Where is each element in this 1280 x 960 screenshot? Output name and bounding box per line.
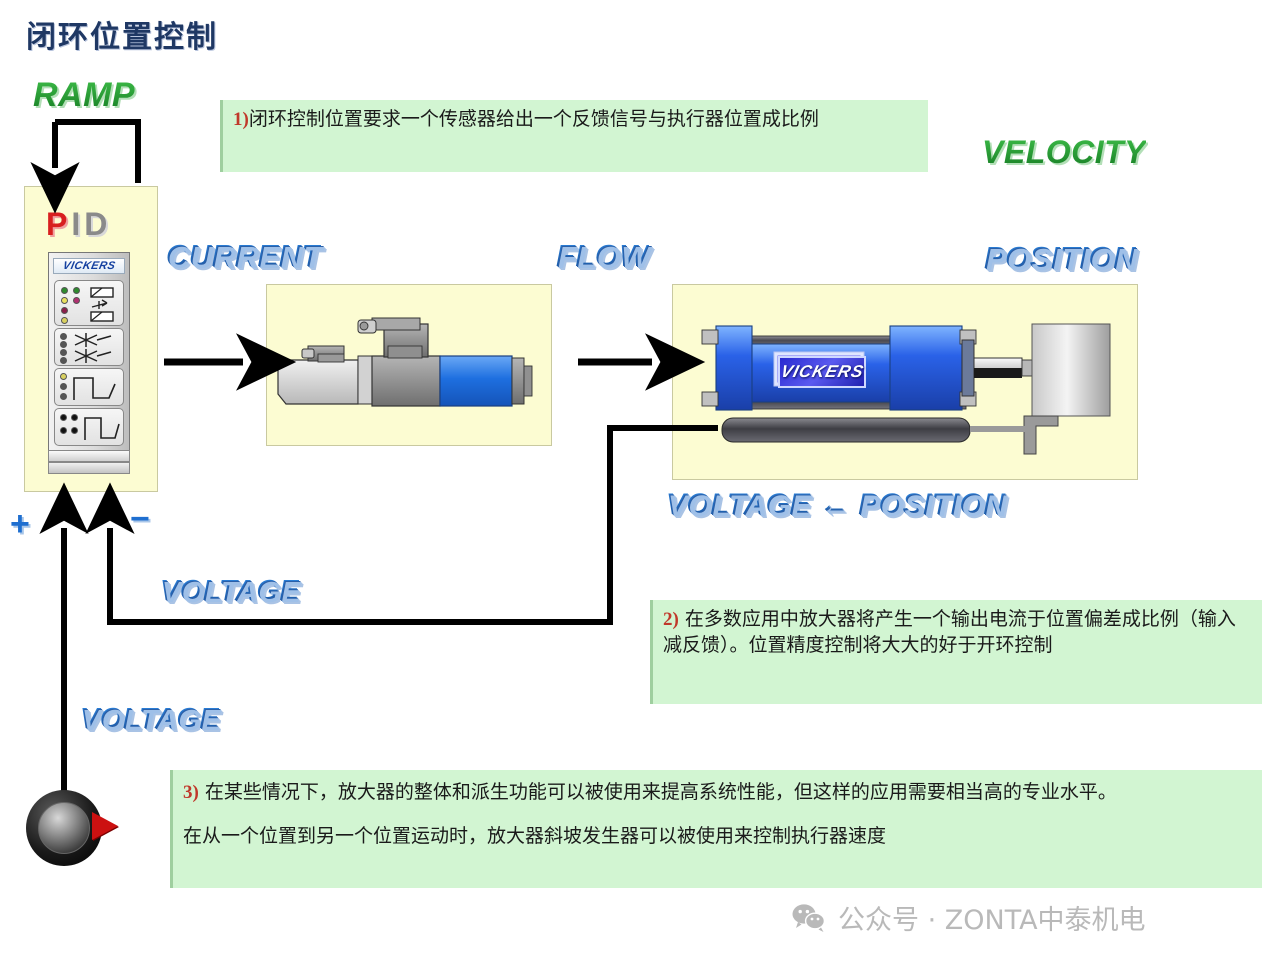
- vickers-logo-amplifier: VICKERS: [53, 258, 125, 274]
- command-knob-pointer-icon: [92, 812, 118, 840]
- note-3-text-2: 在从一个位置到另一个位置运动时，放大器斜坡发生器可以被使用来控制执行器速度: [183, 824, 1252, 850]
- note-2-number: 2): [663, 609, 679, 630]
- led-black-4: [71, 427, 78, 434]
- led-yellow-3: [60, 373, 67, 380]
- pid-letter-i: I: [71, 206, 84, 242]
- led-yellow-2: [61, 317, 68, 324]
- note-1-number: 1): [233, 109, 249, 130]
- amplifier-footer-strip-1: [48, 450, 130, 462]
- label-flow: FLOW: [556, 238, 649, 274]
- amplifier-section-4: [54, 408, 124, 446]
- led-red-1: [61, 307, 68, 314]
- amplifier-section-3: [54, 368, 124, 406]
- ramp-waveform-icon-1: [71, 372, 121, 404]
- led-dark-3: [60, 349, 67, 356]
- vickers-logo-cylinder: VICKERS: [778, 356, 866, 388]
- summing-junction-plus: +: [10, 505, 30, 544]
- command-knob-inner[interactable]: [38, 802, 90, 854]
- valve-symbol-icon-1: [87, 285, 121, 325]
- led-dark-5: [60, 383, 67, 390]
- vickers-wordmark: VICKERS: [62, 260, 117, 272]
- label-voltage-from-position: VOLTAGE ← POSITION: [666, 488, 1006, 522]
- note-2-text: 在多数应用中放大器将产生一个输出电流于位置偏差成比例（输入减反馈）。位置精度控制…: [663, 608, 1236, 656]
- led-dark-2: [60, 341, 67, 348]
- amplifier-section-2: [54, 328, 124, 366]
- amplifier-footer-strip-2: [48, 462, 130, 474]
- led-magenta-1: [73, 297, 80, 304]
- led-yellow-1: [61, 297, 68, 304]
- led-black-1: [60, 414, 67, 421]
- pid-letter-d: D: [84, 206, 111, 242]
- amplifier-section-1: [54, 280, 124, 326]
- note-3-number: 3): [183, 782, 199, 803]
- note-3: 3) 在某些情况下，放大器的整体和派生功能可以被使用来提高系统性能，但这样的应用…: [170, 770, 1262, 888]
- footer-watermark: 公众号 · ZONTA中泰机电: [792, 898, 1146, 937]
- label-ramp: RAMP: [33, 76, 135, 115]
- vickers-wordmark-cylinder: VICKERS: [778, 362, 866, 382]
- proportional-valve-drawing: [272, 292, 548, 440]
- page-title: 闭环位置控制: [26, 12, 218, 56]
- led-black-3: [60, 427, 67, 434]
- ramp-waveform-icon-2: [83, 412, 123, 444]
- led-green-2: [73, 287, 80, 294]
- led-dark-4: [60, 357, 67, 364]
- label-current: CURRENT: [166, 238, 321, 274]
- pid-letter-p: P: [46, 206, 71, 242]
- label-velocity: VELOCITY: [982, 134, 1146, 171]
- led-green-1: [61, 287, 68, 294]
- note-3-text: 在某些情况下，放大器的整体和派生功能可以被使用来提高系统性能，但这样的应用需要相…: [199, 781, 1117, 803]
- hydraulic-cylinder-drawing: [676, 288, 1134, 476]
- potentiometer-symbol-icon: [71, 331, 121, 365]
- led-dark-1: [60, 333, 67, 340]
- note-1-text: 闭环控制位置要求一个传感器给出一个反馈信号与执行器位置成比例: [249, 108, 819, 130]
- label-position: POSITION: [984, 240, 1136, 276]
- wechat-icon: [792, 903, 826, 933]
- led-black-2: [71, 414, 78, 421]
- label-voltage-feedback: VOLTAGE: [160, 575, 299, 608]
- label-voltage-command: VOLTAGE: [80, 703, 219, 736]
- note-2: 2) 在多数应用中放大器将产生一个输出电流于位置偏差成比例（输入减反馈）。位置精…: [650, 600, 1262, 704]
- led-dark-6: [60, 393, 67, 400]
- summing-junction-minus: −: [130, 500, 150, 539]
- note-1: 1)闭环控制位置要求一个传感器给出一个反馈信号与执行器位置成比例: [220, 100, 928, 172]
- footer-text: 公众号 · ZONTA中泰机电: [838, 898, 1146, 937]
- pid-letters: PID: [46, 206, 111, 243]
